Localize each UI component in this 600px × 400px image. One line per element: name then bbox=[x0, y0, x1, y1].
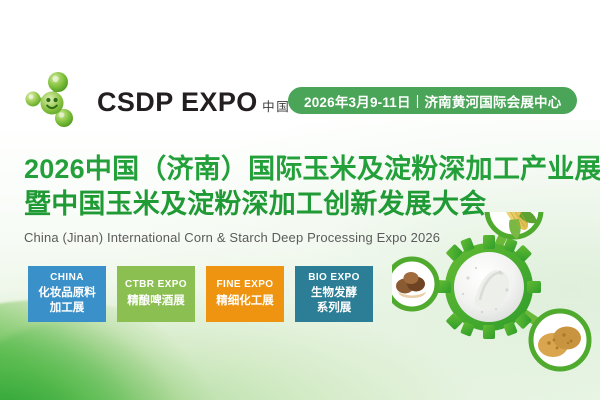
brand-chinese-line-1: 生物发酵 bbox=[311, 286, 357, 300]
headline-line-1: 2026中国（济南）国际玉米及淀粉深加工产业展览会 bbox=[24, 152, 584, 187]
event-date: 2026年3月9-11日 bbox=[304, 91, 411, 111]
brand-english-label: CHINA bbox=[50, 272, 84, 284]
brand-english-label: BIO EXPO bbox=[308, 272, 360, 284]
brand-chinese-line-1: 精酿啤酒展 bbox=[127, 294, 185, 308]
logo-english-name: CSDP EXPO bbox=[97, 87, 258, 117]
brand-chinese-line-2: 系列展 bbox=[311, 301, 357, 315]
badge-separator: | bbox=[411, 93, 425, 108]
gear-starch-network-illustration bbox=[392, 212, 600, 400]
poster-canvas: CSDP EXPO 中国·玉米及淀粉深加工展 2026年3月9-11日 | 济南… bbox=[0, 0, 600, 400]
brand-chinese-line-2: 加工展 bbox=[38, 301, 96, 315]
brand-chinese-label: 精酿啤酒展 bbox=[127, 294, 185, 308]
chocolate-node-icon bbox=[392, 259, 437, 309]
brand-chinese-label: 生物发酵 系列展 bbox=[311, 286, 357, 315]
brand-box-fine-expo[interactable]: FINE EXPO 精细化工展 bbox=[206, 266, 284, 322]
corn-node-icon bbox=[487, 212, 541, 240]
brand-box-china-cosmetics[interactable]: CHINA 化妆品原料 加工展 bbox=[28, 266, 106, 322]
brand-chinese-line-1: 化妆品原料 bbox=[38, 286, 96, 300]
cookies-node-icon bbox=[531, 311, 589, 369]
brand-english-label: FINE EXPO bbox=[217, 279, 274, 291]
brand-chinese-label: 化妆品原料 加工展 bbox=[38, 286, 96, 315]
event-venue: 济南黄河国际会展中心 bbox=[424, 91, 561, 111]
starch-powder-gear-icon bbox=[437, 235, 541, 339]
sub-brand-list: CHINA 化妆品原料 加工展 CTBR EXPO 精酿啤酒展 FINE EXP… bbox=[28, 266, 373, 322]
date-venue-badge[interactable]: 2026年3月9-11日 | 济南黄河国际会展中心 bbox=[288, 87, 577, 114]
brand-chinese-label: 精细化工展 bbox=[216, 294, 274, 308]
brand-box-bio-expo[interactable]: BIO EXPO 生物发酵 系列展 bbox=[295, 266, 373, 322]
molecule-smiley-icon bbox=[22, 68, 88, 134]
brand-box-ctbr-expo[interactable]: CTBR EXPO 精酿啤酒展 bbox=[117, 266, 195, 322]
brand-chinese-line-1: 精细化工展 bbox=[216, 294, 274, 308]
brand-english-label: CTBR EXPO bbox=[125, 279, 187, 291]
